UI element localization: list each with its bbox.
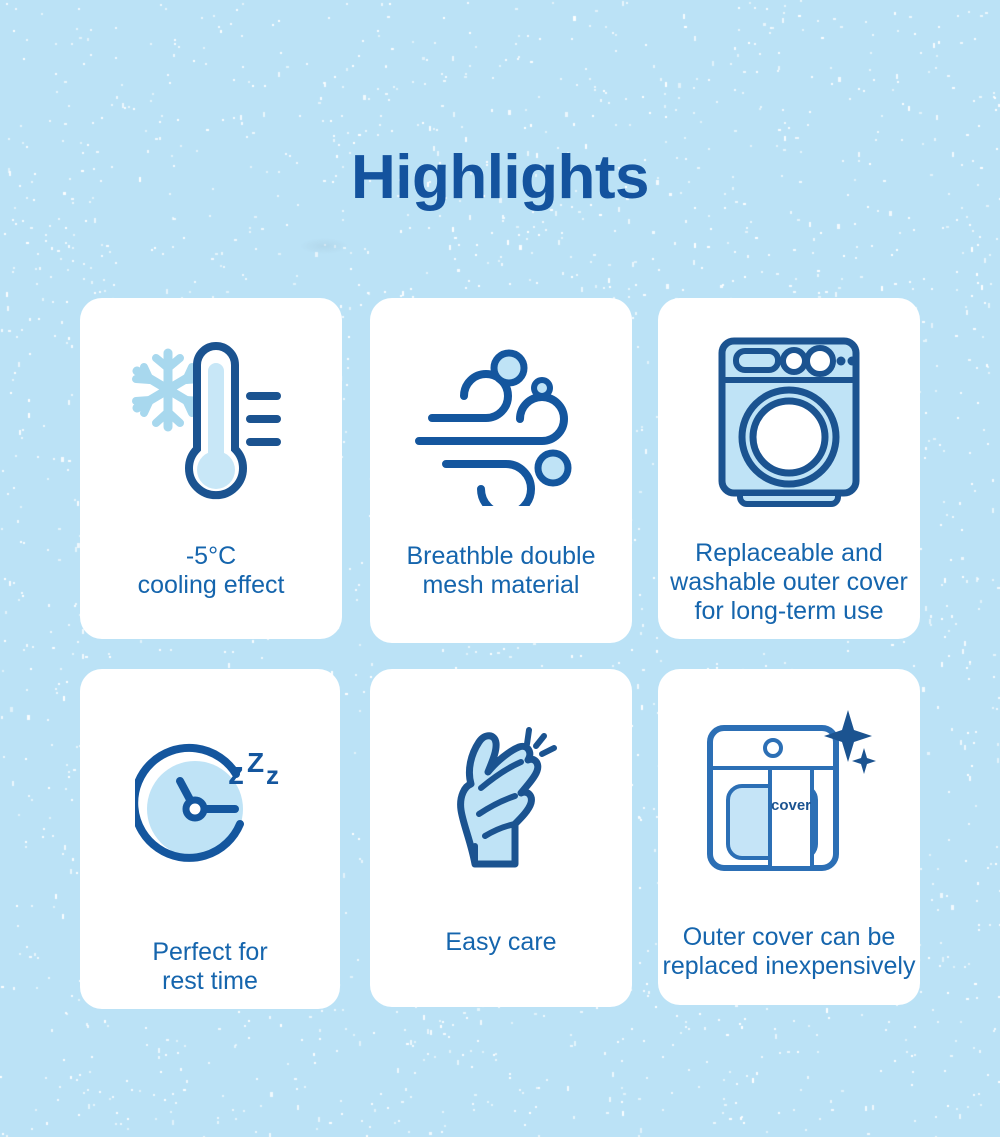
svg-text:Z: Z [247, 747, 264, 778]
highlights-page: Highlights [0, 0, 1000, 1137]
highlights-row-2: z Z z Perfect for rest time [0, 669, 1000, 1009]
svg-text:z: z [228, 755, 244, 791]
clock-sleep-icon: z Z z [135, 669, 285, 914]
svg-text:z: z [266, 760, 279, 790]
washing-machine-icon [714, 298, 864, 525]
highlight-card-cooling-effect[interactable]: -5°C cooling effect [80, 298, 342, 639]
highlights-row-1: -5°C cooling effect [0, 298, 1000, 643]
wind-breeze-icon [414, 298, 589, 528]
highlight-card-replaceable-cover[interactable]: cover Outer cover can be replaced inexpe… [658, 669, 920, 1005]
cover-label: cover [770, 797, 810, 814]
highlight-caption: Replaceable and washable outer cover for… [639, 539, 939, 626]
highlight-card-rest-time[interactable]: z Z z Perfect for rest time [80, 669, 340, 1009]
highlight-caption: Perfect for rest time [152, 938, 267, 996]
highlight-caption: Easy care [445, 928, 556, 957]
page-title: Highlights [0, 142, 1000, 213]
highlight-card-breathable-mesh[interactable]: Breathble double mesh material [370, 298, 632, 643]
thermometer-snowflake-icon [129, 298, 294, 528]
highlight-card-washable-cover[interactable]: Replaceable and washable outer cover for… [658, 298, 920, 639]
cover-package-sparkle-icon: cover [702, 669, 877, 899]
highlight-caption: -5°C cooling effect [138, 542, 285, 600]
highlight-card-easy-care[interactable]: Easy care [370, 669, 632, 1007]
highlights-grid: -5°C cooling effect [0, 298, 1000, 1009]
highlight-caption: Outer cover can be replaced inexpensivel… [639, 923, 939, 981]
finger-snap-hand-icon [441, 669, 561, 904]
highlight-caption: Breathble double mesh material [406, 542, 595, 600]
decorative-smudge [300, 238, 348, 254]
